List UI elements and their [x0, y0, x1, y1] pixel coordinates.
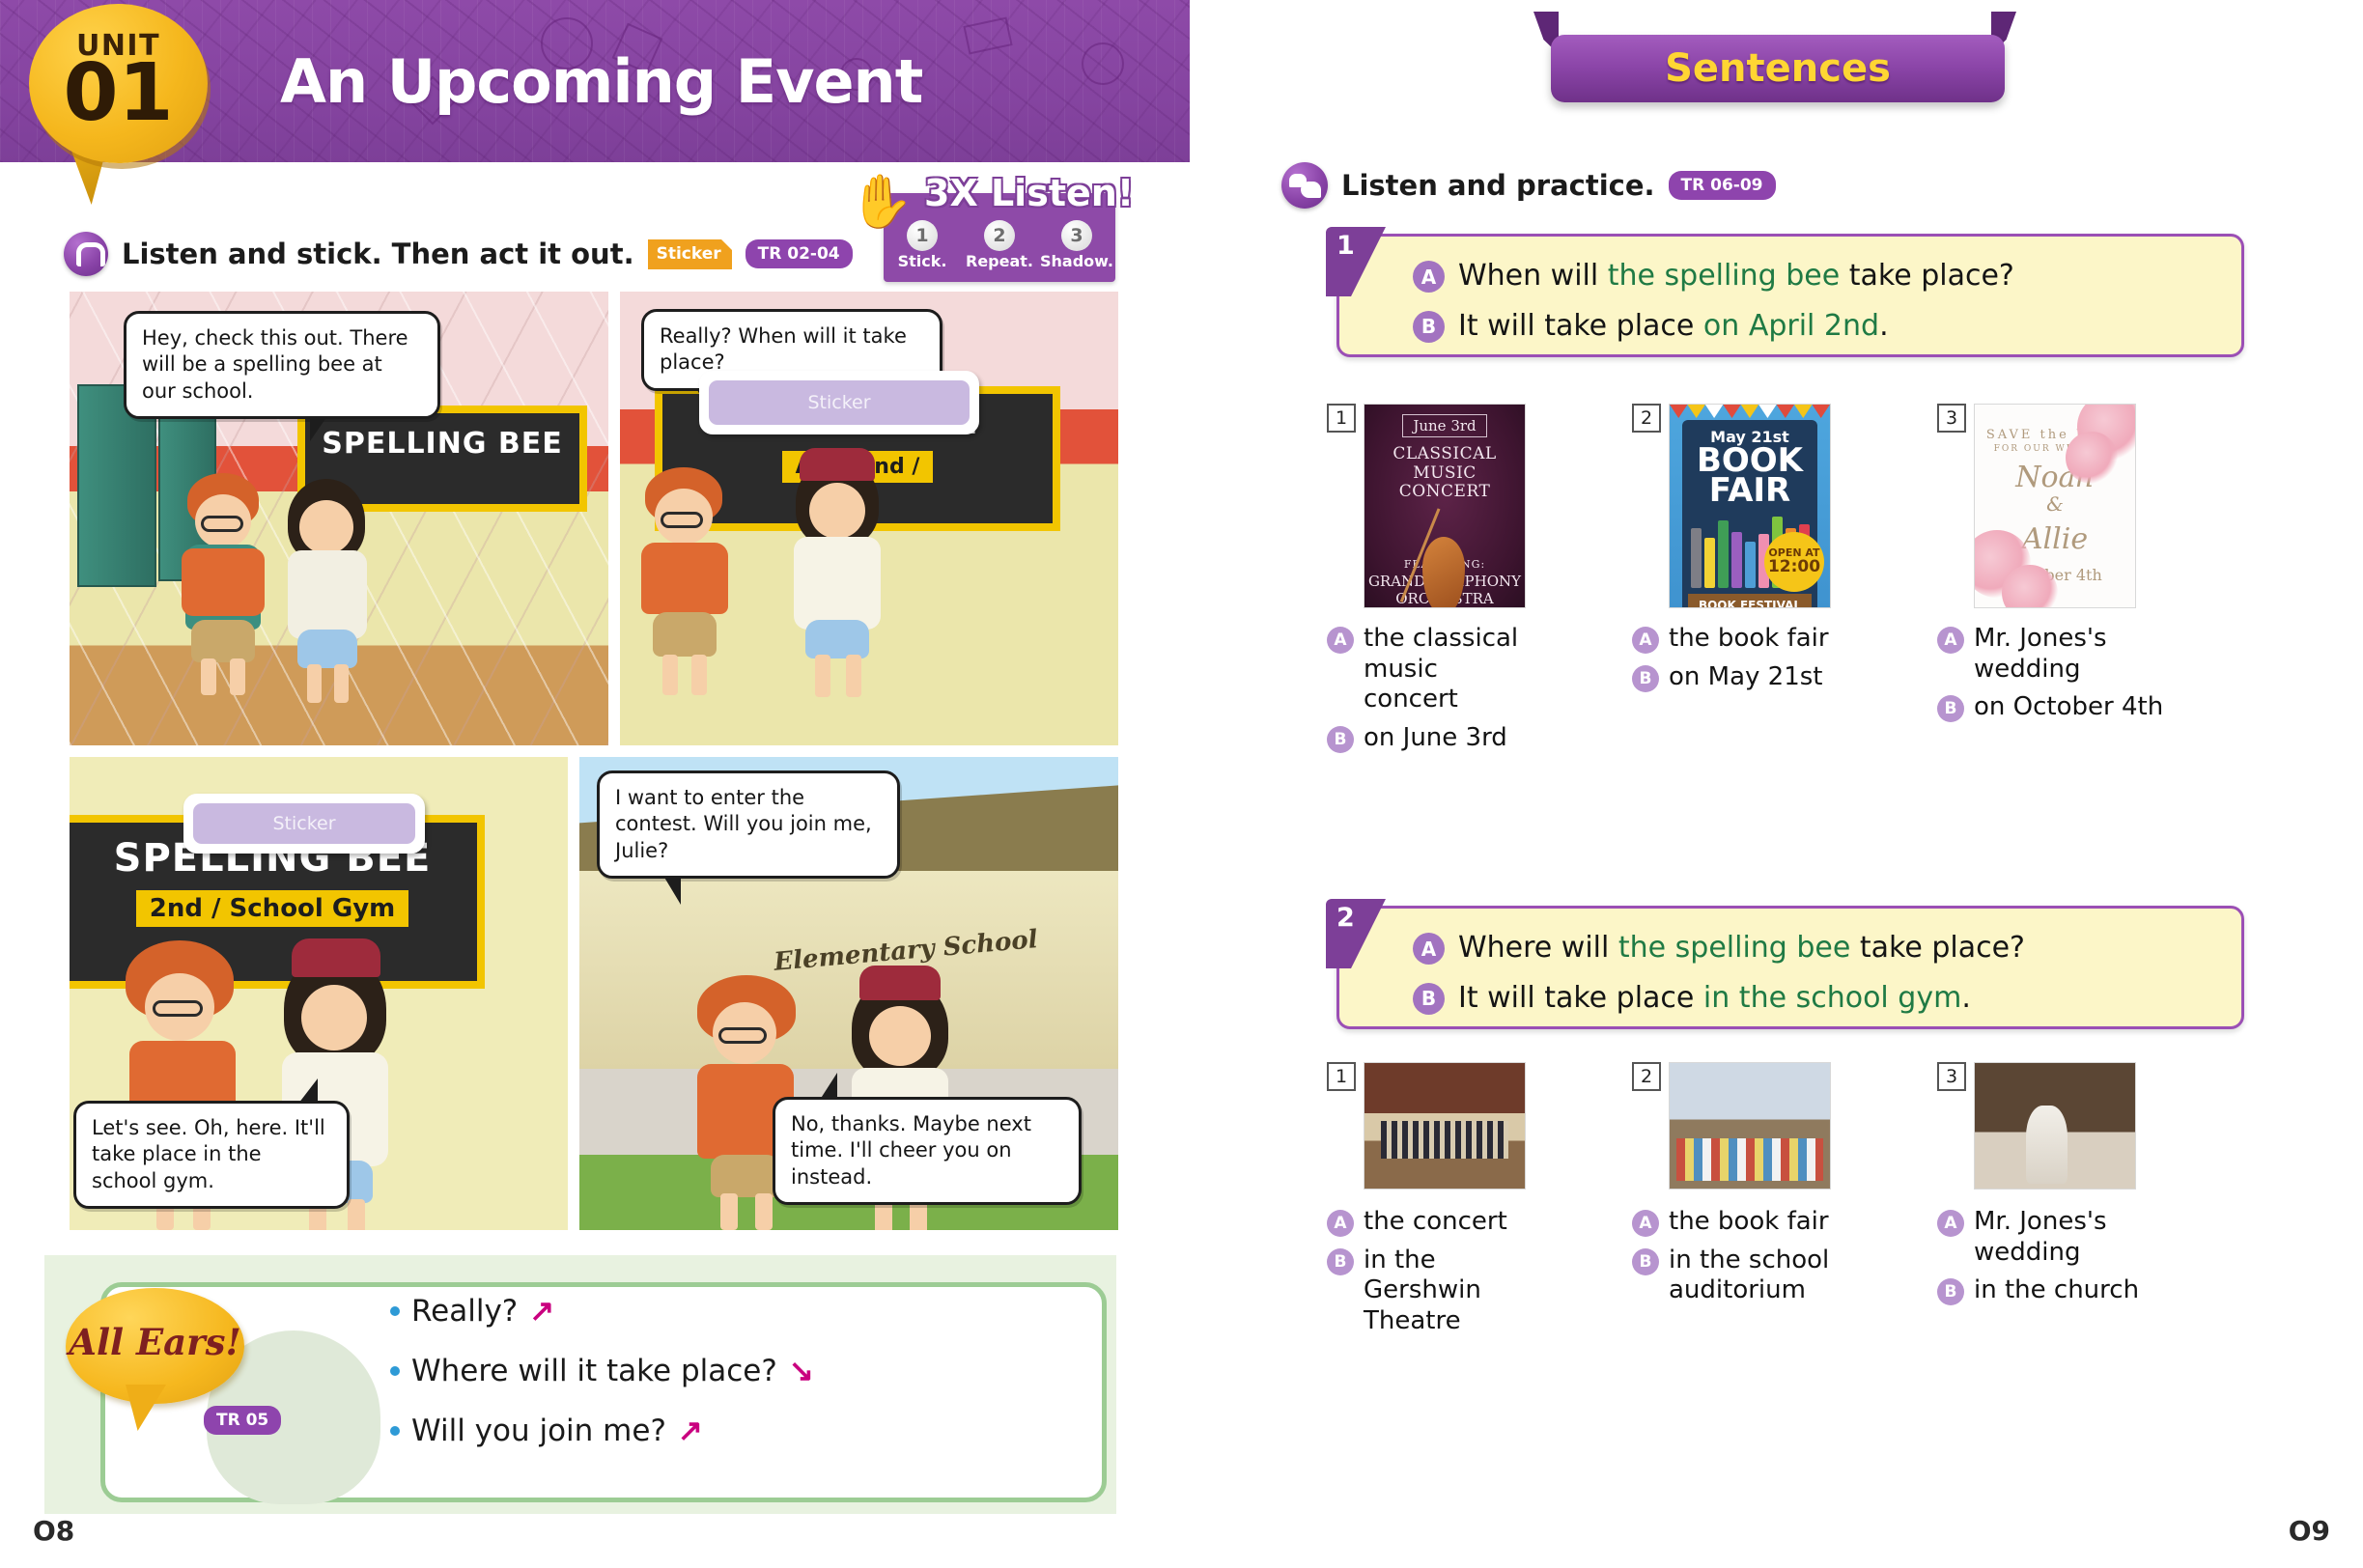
dialogue-text-a: Where will the spelling bee take place? [1458, 930, 2025, 966]
sentences-title: Sentences [1665, 46, 1891, 91]
answer-text-a: Mr. Jones's wedding [1974, 624, 2179, 685]
speaker-b-badge: B [1327, 1248, 1354, 1275]
speaker-a-badge: A [1937, 627, 1964, 654]
speech-bubbles-icon [1281, 162, 1328, 209]
answer-line-a: A Mr. Jones's wedding [1937, 624, 2179, 685]
sentences-title-ribbon: Sentences [1551, 35, 2005, 102]
sticker-placeholder[interactable]: Sticker [699, 371, 979, 434]
speech-bubble: No, thanks. Maybe next time. I'll cheer … [773, 1097, 1082, 1205]
three-times-listen-badge: ✋ 3X Listen! 1 Stick. 2 Repeat. 3 Shadow… [884, 193, 1115, 282]
bullet-dot [390, 1366, 400, 1376]
church-wedding-photo [1974, 1062, 2136, 1190]
poster-date: June 3rd [1402, 414, 1486, 437]
boy-character [628, 467, 742, 709]
card-number: 2 [1632, 404, 1661, 433]
speaker-b-badge: B [1632, 1248, 1659, 1275]
card-3[interactable]: 3 A Mr. Jones's wedding B in the church [1937, 1062, 2175, 1352]
highlight-phrase: the spelling bee [1618, 931, 1850, 965]
concert-hall-orchestra-photo [1364, 1062, 1526, 1190]
unit-badge: UNIT 01 [29, 4, 208, 163]
listen-step-3-number: 3 [1061, 220, 1092, 251]
poster-title: CLASSICAL MUSICCONCERT [1364, 445, 1525, 502]
listen-step-2-label: Repeat. [961, 252, 1038, 270]
answer-text-b: in the church [1974, 1275, 2139, 1306]
speaker-a-badge: A [1413, 261, 1445, 293]
all-ears-item-text: Really? [411, 1294, 518, 1329]
violin-icon [1407, 510, 1482, 546]
answer-line-b: B on June 3rd [1327, 723, 1535, 754]
answer-text-a: the book fair [1669, 624, 1829, 655]
rising-intonation-arrow-icon: ↗ [529, 1294, 554, 1329]
dialogue-box-2: 2 A Where will the spelling bee take pla… [1336, 906, 2244, 1029]
bunting-icon [1670, 405, 1830, 418]
speaker-a-badge: A [1632, 627, 1659, 654]
girl-character [782, 454, 898, 705]
page-title: An Upcoming Event [280, 46, 922, 117]
answer-line-a: A the classical music concert [1327, 624, 1535, 715]
answer-text-b: in the Gershwin Theatre [1364, 1246, 1535, 1337]
answer-text-b: on June 3rd [1364, 723, 1507, 754]
speech-bubble-text: Let's see. Oh, here. It'll take place in… [92, 1116, 325, 1192]
card-2-answers: A the book fair B in the school auditori… [1632, 1207, 1841, 1314]
all-ears-item-text: Will you join me? [411, 1414, 666, 1448]
bullet-dot [390, 1426, 400, 1436]
answer-line-a: A the concert [1327, 1207, 1535, 1238]
instruction-text: Listen and stick. Then act it out. [122, 238, 634, 270]
comic-panel-2: SPELLING BEE April 2nd / [616, 288, 1122, 749]
board-title: SPELLING BEE [322, 427, 563, 461]
card-2[interactable]: 2 A the book fair B in the school audito… [1632, 1062, 1841, 1352]
open-time: 12:00 [1768, 559, 1820, 576]
speech-bubble: I want to enter the contest. Will you jo… [597, 770, 900, 879]
card-3-answers: A Mr. Jones's wedding B in the church [1937, 1207, 2179, 1314]
speaker-a-badge: A [1327, 1210, 1354, 1237]
speech-bubble: Hey, check this out. There will be a spe… [124, 311, 440, 419]
speaker-a-badge: A [1327, 627, 1354, 654]
dialogue-line-a: A When will the spelling bee take place? [1413, 258, 2216, 294]
answer-text-a: the book fair [1669, 1207, 1829, 1238]
speaker-b-badge: B [1327, 726, 1354, 753]
all-ears-title: All Ears! [66, 1321, 244, 1363]
card-number: 2 [1632, 1062, 1661, 1091]
wedding-ampersand: & [2046, 492, 2064, 516]
wedding-save-the-date-card: SAVE the DATE FOR OUR WEDDING Noah & All… [1974, 404, 2136, 608]
left-page: UNIT 01 An Upcoming Event Listen and sti… [0, 0, 1190, 1568]
card-2-answers: A the book fair B on May 21st [1632, 624, 1841, 700]
dialogue-number: 1 [1336, 231, 1355, 261]
sticker-placeholder-label: Sticker [193, 803, 415, 844]
all-ears-item: Really? ↗ [390, 1294, 814, 1329]
track-tag[interactable]: TR 06-09 [1669, 171, 1776, 200]
card-3[interactable]: 3 SAVE the DATE FOR OUR WEDDING Noah & A… [1937, 404, 2175, 693]
block-2-card-row: 1 A the concert B in the Gershwin Theatr… [1327, 1062, 2175, 1352]
highlight-phrase: on April 2nd [1703, 309, 1879, 343]
dialogue-text-b: It will take place in the school gym. [1458, 980, 1971, 1017]
card-1-answers: A the concert B in the Gershwin Theatre [1327, 1207, 1535, 1345]
listen-step-3-label: Shadow. [1038, 252, 1115, 270]
sticker-placeholder-label: Sticker [709, 380, 970, 425]
dialogue-text-a: When will the spelling bee take place? [1458, 258, 2014, 294]
comic-panel-1: SPELLING BEE Hey, check [66, 288, 612, 749]
all-ears-list: Really? ↗ Where will it take place? ↘ Wi… [390, 1294, 814, 1473]
dialogue-number: 2 [1336, 903, 1355, 933]
all-ears-item: Will you join me? ↗ [390, 1414, 814, 1448]
dialogue-box-1: 1 A When will the spelling bee take plac… [1336, 234, 2244, 357]
answer-line-b: B in the school auditorium [1632, 1246, 1841, 1306]
card-number: 3 [1937, 404, 1966, 433]
card-1[interactable]: 1 A the concert B in the Gershwin Theatr… [1327, 1062, 1535, 1352]
answer-line-a: A the book fair [1632, 624, 1841, 655]
speaker-a-badge: A [1632, 1210, 1659, 1237]
listen-and-stick-instruction: Listen and stick. Then act it out. Stick… [64, 232, 853, 276]
unit-number: 01 [29, 54, 208, 133]
all-ears-item: Where will it take place? ↘ [390, 1354, 814, 1388]
sticker-tag[interactable]: Sticker [648, 239, 732, 269]
students-reading-books-photo [1669, 1062, 1831, 1190]
all-ears-item-text: Where will it take place? [411, 1354, 777, 1388]
classical-music-concert-poster: June 3rd CLASSICAL MUSICCONCERT FEATURIN… [1364, 404, 1526, 608]
wedding-name-2: Allie [2022, 525, 2088, 554]
listen-step-1-label: Stick. [884, 252, 961, 270]
listen-step-2: 2 Repeat. [961, 220, 1038, 270]
card-3-answers: A Mr. Jones's wedding B on October 4th [1937, 624, 2179, 731]
listen-step-1-number: 1 [907, 220, 938, 251]
dialogue-line-b: B It will take place in the school gym. [1413, 980, 2216, 1017]
falling-intonation-arrow-icon: ↘ [789, 1354, 814, 1388]
speaker-b-badge: B [1937, 1278, 1964, 1305]
card-number: 3 [1937, 1062, 1966, 1091]
card-2[interactable]: 2 May 21st BOOK FAIR [1632, 404, 1841, 693]
dialogue-text-b: It will take place on April 2nd. [1458, 308, 1889, 345]
highlight-phrase: the spelling bee [1608, 259, 1840, 293]
listen-step-1: 1 Stick. [884, 220, 961, 270]
rising-intonation-arrow-icon: ↗ [678, 1414, 703, 1448]
speaker-b-badge: B [1937, 695, 1964, 722]
block-1-card-row: 1 June 3rd CLASSICAL MUSICCONCERT FEATUR… [1327, 404, 2175, 693]
answer-text-b: in the school auditorium [1669, 1246, 1841, 1306]
card-1-answers: A the classical music concert B on June … [1327, 624, 1535, 762]
dialogue-line-a: A Where will the spelling bee take place… [1413, 930, 2216, 966]
speaker-a-badge: A [1413, 933, 1445, 965]
answer-line-b: B in the Gershwin Theatre [1327, 1246, 1535, 1337]
bullet-dot [390, 1306, 400, 1316]
card-1[interactable]: 1 June 3rd CLASSICAL MUSICCONCERT FEATUR… [1327, 404, 1535, 693]
answer-line-b: B on May 21st [1632, 662, 1841, 693]
dialogue-line-b: B It will take place on April 2nd. [1413, 308, 2216, 345]
speech-bubble-text: Hey, check this out. There will be a spe… [142, 326, 408, 403]
answer-text-a: the concert [1364, 1207, 1507, 1238]
card-number: 1 [1327, 404, 1356, 433]
dialogue-number-flag: 2 [1326, 899, 1386, 968]
answer-text-a: the classical music concert [1364, 624, 1535, 715]
speaker-b-badge: B [1413, 311, 1445, 343]
poster-bar-text: BOOK FESTIVAL EVENT [1688, 594, 1812, 607]
listen-and-practice-instruction: Listen and practice. TR 06-09 [1281, 162, 1776, 209]
comic-panel-4: Elementary School I want [576, 753, 1122, 1234]
answer-text-b: on October 4th [1974, 692, 2163, 723]
girl-character [274, 481, 380, 703]
listen-step-2-number: 2 [984, 220, 1015, 251]
all-ears-badge: All Ears! [66, 1288, 244, 1404]
answer-line-a: A the book fair [1632, 1207, 1841, 1238]
board-strip: 2nd / School Gym [136, 890, 409, 927]
poster-title-line2: FAIR [1709, 476, 1790, 506]
boy-character [170, 473, 276, 695]
comic-strip: SPELLING BEE Hey, check [66, 288, 1122, 1234]
right-page: Listen and practice. TR 06-09 1 A When w… [1190, 0, 2363, 1568]
dialogue-number-flag: 1 [1326, 227, 1386, 296]
answer-text-b: on May 21st [1669, 662, 1823, 693]
answer-text-a: Mr. Jones's wedding [1974, 1207, 2179, 1268]
listen-badge-title: 3X Listen! [924, 172, 1134, 214]
listen-step-3: 3 Shadow. [1038, 220, 1115, 270]
speaker-b-badge: B [1632, 665, 1659, 692]
open-at-badge: OPEN AT 12:00 [1764, 532, 1824, 592]
all-ears-section: All Ears! TR 05 Really? ↗ Where will it … [44, 1255, 1116, 1514]
headphones-icon [64, 232, 108, 276]
answer-line-b: B in the church [1937, 1275, 2179, 1306]
instruction-text: Listen and practice. [1341, 169, 1655, 202]
comic-panel-3: SPELLING BEE 2nd / School Gym [66, 753, 572, 1234]
track-tag[interactable]: TR 02-04 [745, 239, 853, 268]
page-number-right: O9 [2289, 1515, 2330, 1547]
speech-bubble: Let's see. Oh, here. It'll take place in… [73, 1101, 350, 1209]
answer-line-b: B on October 4th [1937, 692, 2179, 723]
speaker-b-badge: B [1413, 983, 1445, 1015]
speaker-a-badge: A [1937, 1210, 1964, 1237]
speech-bubble-text: I want to enter the contest. Will you jo… [615, 786, 872, 862]
highlight-phrase: in the school gym [1703, 981, 1961, 1015]
speech-bubble-text: No, thanks. Maybe next time. I'll cheer … [791, 1112, 1031, 1189]
sticker-placeholder[interactable]: Sticker [183, 794, 425, 854]
answer-line-a: A Mr. Jones's wedding [1937, 1207, 2179, 1268]
book-fair-poster: May 21st BOOK FAIR BOOK FESTIVAL EVENT L… [1669, 404, 1831, 608]
all-ears-track-tag[interactable]: TR 05 [204, 1406, 281, 1435]
page-number-left: O8 [33, 1515, 74, 1547]
card-number: 1 [1327, 1062, 1356, 1091]
speech-bubble-text: Really? When will it take place? [660, 324, 907, 374]
